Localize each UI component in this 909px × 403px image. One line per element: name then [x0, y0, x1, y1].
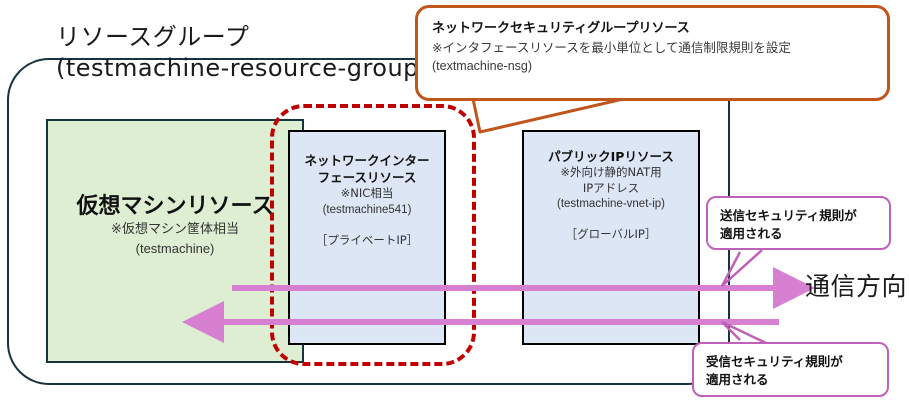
network-interface-ip-tag: ［プライベートIP］ — [288, 232, 446, 248]
network-interface-title-line2: フェースリソース — [288, 169, 446, 186]
public-ip-title: パブリックIPリソース — [522, 148, 700, 165]
network-interface-note: ※NIC相当 — [288, 186, 446, 202]
nsg-callout-note: ※インタフェースリソースを最小単位として通信制限規則を設定 — [432, 38, 873, 57]
nsg-callout-title: ネットワークセキュリティグループリソース — [432, 19, 873, 38]
public-ip-name: (testmachine-vnet-ip) — [522, 196, 700, 212]
public-ip-label-group: パブリックIPリソース ※外向け静的NAT用 IPアドレス (testmachi… — [522, 148, 700, 242]
nsg-callout: ネットワークセキュリティグループリソース ※インタフェースリソースを最小単位とし… — [415, 5, 890, 101]
virtual-machine-label-group: 仮想マシンリソース ※仮想マシン筐体相当 (testmachine) — [46, 193, 304, 258]
virtual-machine-title: 仮想マシンリソース — [46, 193, 304, 221]
virtual-machine-name: (testmachine) — [46, 239, 304, 258]
network-interface-label-group: ネットワークインター フェースリソース ※NIC相当 (testmachine5… — [288, 152, 446, 248]
communication-direction-label: 通信方向 — [805, 272, 907, 302]
virtual-machine-note: ※仮想マシン筐体相当 — [46, 221, 304, 239]
network-interface-title-line1: ネットワークインター — [288, 152, 446, 169]
public-ip-note-line1: ※外向け静的NAT用 — [522, 165, 700, 181]
public-ip-note-line2: IPアドレス — [522, 181, 700, 197]
resource-group-title: リソースグループ (testmachine-resource-group) — [56, 22, 436, 84]
diagram-canvas: リソースグループ (testmachine-resource-group) 仮想… — [0, 0, 909, 403]
network-interface-name: (testmachine541) — [288, 202, 446, 218]
nsg-callout-name: (textmachine-nsg) — [432, 57, 873, 76]
inbound-rule-callout: 受信セキュリティ規則が 適用される — [692, 342, 889, 397]
public-ip-global-tag: ［グローバルIP］ — [522, 226, 700, 242]
outbound-rule-callout: 送信セキュリティ規則が 適用される — [706, 196, 891, 250]
